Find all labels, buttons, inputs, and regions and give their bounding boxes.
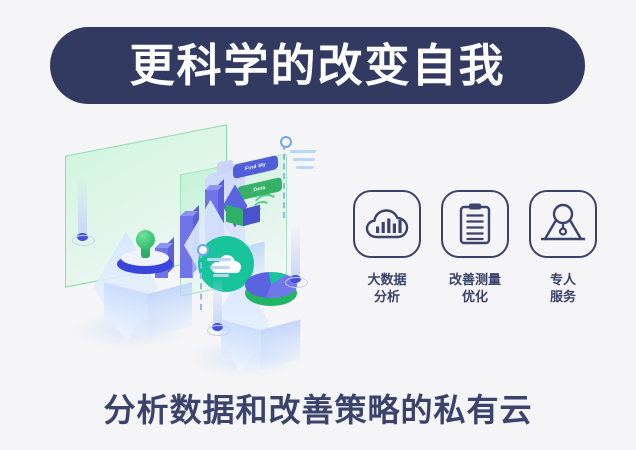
speed-lines [207, 258, 231, 282]
feature-label-service: 专人 服务 [550, 271, 576, 305]
service-person-icon [539, 203, 587, 245]
feature-item-big-data[interactable]: 大数据 分析 [350, 190, 424, 305]
cloud-chart-icon [365, 206, 409, 242]
small-cube-icon [223, 194, 257, 228]
poster-canvas: 更科学的改变自我 Find My Data [0, 0, 636, 450]
marker-pin-icon [213, 278, 222, 336]
dashed-connector [200, 252, 202, 310]
marker-pin-icon [291, 224, 300, 288]
green-sphere-pedestal-icon [117, 236, 173, 274]
title-banner: 更科学的改变自我 [50, 27, 585, 104]
service-person-icon-box [529, 190, 597, 258]
feature-label-big-data: 大数据 分析 [367, 271, 406, 305]
speed-lines [290, 150, 316, 174]
marker-pin-icon [78, 176, 87, 246]
feature-item-measurement[interactable]: 改善测量 优化 [438, 190, 512, 305]
pie-chart-3d-icon [245, 268, 297, 312]
feature-item-service[interactable]: 专人 服务 [526, 190, 600, 305]
footer-tagline: 分析数据和改善策略的私有云 [0, 385, 636, 431]
clipboard-icon [455, 202, 495, 246]
cloud-chart-icon-box [353, 190, 421, 258]
feature-label-measurement: 改善测量 优化 [449, 271, 501, 305]
feature-list: 大数据 分析 改善测量 优化 [350, 190, 600, 305]
dashed-connector [283, 144, 285, 218]
illustration: Find My Data [35, 128, 345, 368]
clipboard-icon-box [441, 190, 509, 258]
page-title: 更科学的改变自我 [129, 43, 505, 88]
